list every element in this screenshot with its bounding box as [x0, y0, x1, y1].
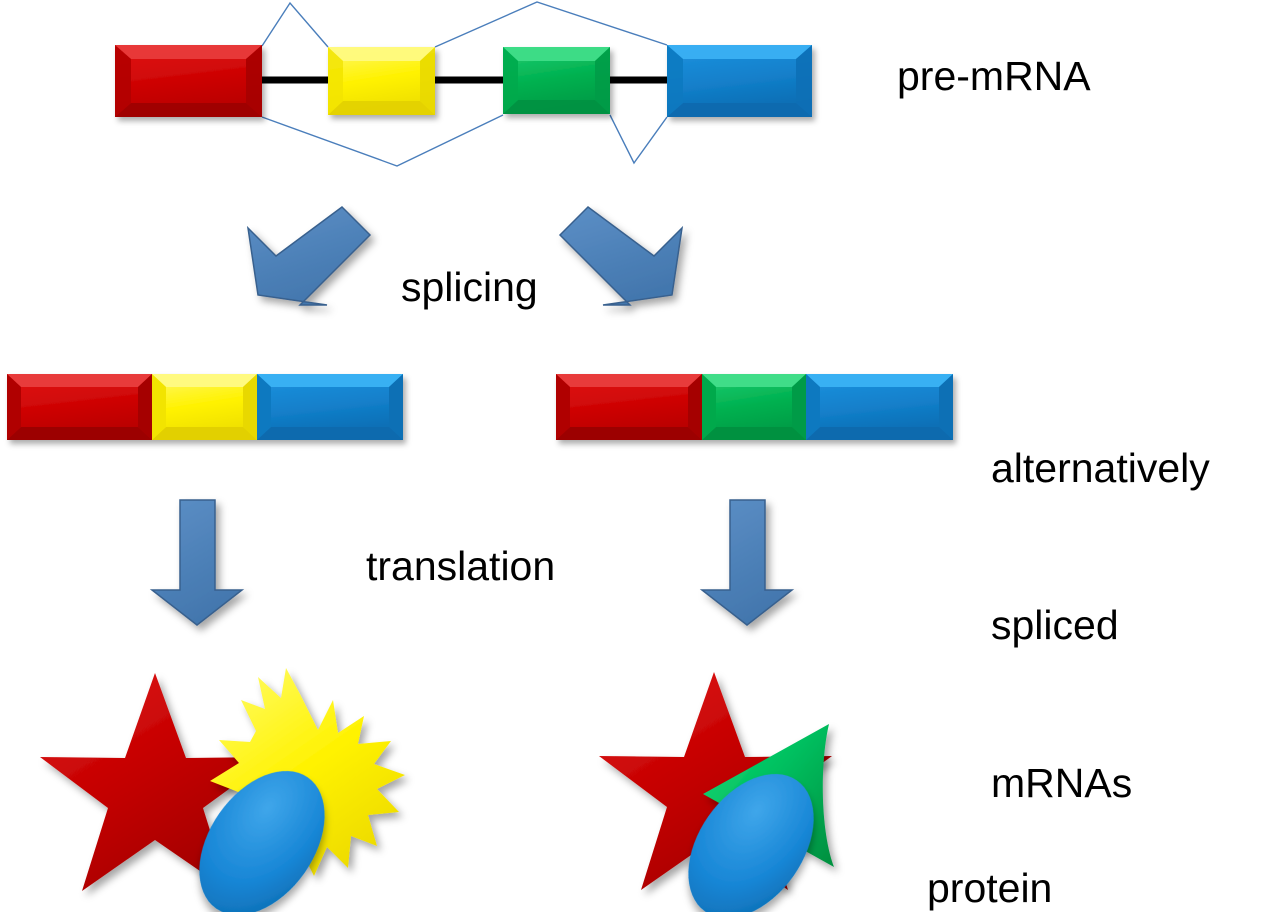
exon-box-red: [115, 45, 262, 117]
label-spliced: spliced: [991, 599, 1210, 651]
exon-box-blue: [667, 45, 812, 117]
splice-guide-lines: [262, 2, 667, 166]
protein-left-blue-ellipse: [174, 748, 351, 912]
mrna-left-segment-red: [7, 374, 152, 440]
exon-box-green: [503, 47, 610, 114]
translation-arrow-left: [152, 500, 242, 625]
label-splicing: splicing: [401, 261, 538, 313]
protein-left-red-star: [40, 673, 273, 891]
exon-box-yellow: [328, 47, 435, 115]
label-protein: protein: [927, 862, 1082, 912]
mrna-right-segment-red: [556, 374, 702, 440]
protein-isoform-left: [40, 668, 405, 912]
label-translation: translation: [366, 540, 555, 592]
protein-isoform-right: [599, 672, 839, 912]
label-alternatively: alternatively: [991, 442, 1210, 494]
splicing-arrow-left: [248, 207, 370, 305]
translation-arrow-right: [702, 500, 792, 625]
mrna-left-bar: [7, 374, 403, 440]
mrna-right-segment-blue: [806, 374, 953, 440]
splice-line-lower-green-blue: [610, 115, 667, 163]
splice-line-upper-red-yellow: [262, 3, 328, 47]
protein-right-blue-ellipse: [663, 751, 840, 912]
mrna-right-segment-green: [702, 374, 806, 440]
splice-line-upper-yellow-blue: [435, 2, 667, 47]
protein-left-yellow-burst: [210, 668, 405, 876]
protein-right-green-cone: [703, 724, 834, 867]
splicing-arrow-right: [560, 207, 682, 305]
label-pre-mrna: pre-mRNA: [897, 50, 1091, 102]
diagram-canvas: pre-mRNA splicing alternatively spliced …: [0, 0, 1276, 912]
mrna-left-segment-blue: [257, 374, 403, 440]
protein-right-red-star: [599, 672, 832, 890]
mrna-left-segment-yellow: [152, 374, 257, 440]
splice-line-lower-red-green: [262, 115, 503, 166]
mrna-right-bar: [556, 374, 953, 440]
label-protein-isoforms: protein isoforms: [927, 757, 1082, 912]
